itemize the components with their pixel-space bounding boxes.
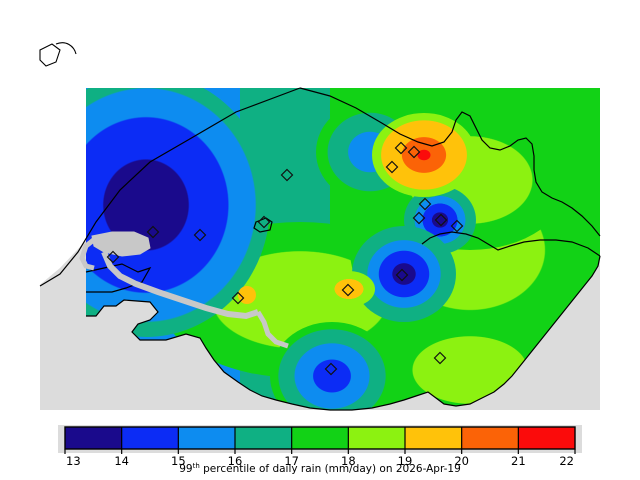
- colorbar-swatch: [178, 427, 235, 449]
- colorbar-tick-label: 13: [66, 454, 81, 468]
- colorbar-caption-superscript: th: [193, 462, 200, 470]
- colorbar-swatches: [65, 427, 575, 449]
- colorbar-caption-rest: percentile of daily rain (mm/day) on 202…: [200, 463, 461, 475]
- colorbar-swatch: [348, 427, 405, 449]
- colorbar-swatch: [122, 427, 179, 449]
- colorbar-caption-prefix: 99: [179, 463, 192, 475]
- colorbar-swatch: [292, 427, 349, 449]
- colorbar-swatch: [462, 427, 519, 449]
- colorbar-tick-label: 14: [114, 454, 129, 468]
- colorbar-swatch: [518, 427, 575, 449]
- colorbar-panel: 13141516171819202122 99th percentile of …: [0, 418, 640, 480]
- colorbar-swatch: [65, 427, 122, 449]
- colorbar-tick-label: 21: [511, 454, 526, 468]
- colorbar: 13141516171819202122 99th percentile of …: [0, 418, 640, 480]
- colorbar-swatch: [235, 427, 292, 449]
- colorbar-tick-label: 22: [559, 454, 574, 468]
- contour-map: [0, 0, 640, 418]
- map-panel: [0, 0, 640, 418]
- weather-map-page: VictoriaWeather.ca -- Summer Total Daily…: [0, 0, 640, 480]
- ocean-left: [0, 282, 40, 418]
- colorbar-caption: 99th percentile of daily rain (mm/day) o…: [179, 462, 461, 475]
- colorbar-swatch: [405, 427, 462, 449]
- northeast-maximum: [372, 113, 476, 197]
